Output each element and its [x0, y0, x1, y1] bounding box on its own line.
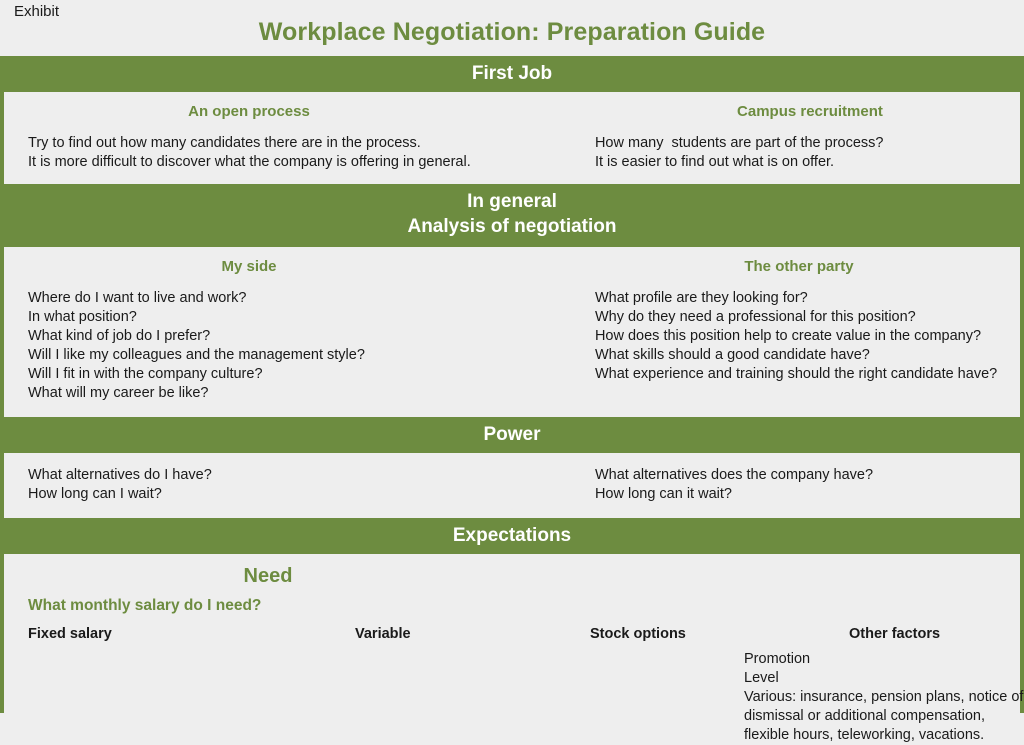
- power-left-line-1: What alternatives do I have?: [28, 466, 573, 485]
- first-job-right-line-2: It is easier to find out what is on offe…: [595, 153, 1020, 172]
- first-job-right-line-1: How many students are part of the proces…: [595, 134, 1020, 153]
- need-columns-table: Fixed salary Variable Stock options Othe…: [4, 624, 1020, 744]
- in-general-right-column: The other party What profile are they lo…: [573, 257, 1020, 403]
- other-factors-note-2: Level: [744, 669, 1024, 688]
- in-general-columns: My side Where do I want to live and work…: [4, 257, 1020, 403]
- other-party-line-5: What experience and training should the …: [595, 365, 1020, 384]
- first-job-left-line-2: It is more difficult to discover what th…: [28, 153, 573, 172]
- my-side-line-5: Will I fit in with the company culture?: [28, 365, 573, 384]
- power-right-column: What alternatives does the company have?…: [573, 466, 1020, 504]
- panel-power: What alternatives do I have? How long ca…: [4, 453, 1020, 518]
- section-header-in-general: In general Analysis of negotiation: [4, 184, 1020, 247]
- power-right-line-1: What alternatives does the company have?: [595, 466, 1020, 485]
- need-column-header-variable: Variable: [355, 624, 411, 644]
- other-party-line-3: How does this position help to create va…: [595, 327, 1020, 346]
- need-question: What monthly salary do I need?: [28, 595, 1020, 616]
- subheading-the-other-party: The other party: [573, 257, 1024, 277]
- other-factors-note-1: Promotion: [744, 650, 1024, 669]
- section-header-in-general-line-2: Analysis of negotiation: [4, 214, 1020, 239]
- power-right-line-2: How long can it wait?: [595, 485, 1020, 504]
- need-column-header-fixed-salary: Fixed salary: [28, 624, 112, 644]
- subheading-an-open-process: An open process: [4, 102, 494, 122]
- other-party-line-4: What skills should a good candidate have…: [595, 346, 1020, 365]
- first-job-columns: An open process Try to find out how many…: [4, 102, 1020, 172]
- exhibit-container: Exhibit Workplace Negotiation: Preparati…: [0, 0, 1024, 713]
- section-header-in-general-line-1: In general: [4, 189, 1020, 214]
- other-party-line-2: Why do they need a professional for this…: [595, 308, 1020, 327]
- subheading-my-side: My side: [4, 257, 494, 277]
- subheading-need: Need: [28, 563, 508, 589]
- other-factors-note-3: Various: insurance, pension plans, notic…: [744, 688, 1024, 745]
- page-title: Workplace Negotiation: Preparation Guide: [0, 18, 1024, 47]
- first-job-left-column: An open process Try to find out how many…: [4, 102, 573, 172]
- power-columns: What alternatives do I have? How long ca…: [4, 466, 1020, 504]
- panel-in-general: My side Where do I want to live and work…: [4, 247, 1020, 417]
- my-side-line-4: Will I like my colleagues and the manage…: [28, 346, 573, 365]
- first-job-left-line-1: Try to find out how many candidates ther…: [28, 134, 573, 153]
- my-side-line-6: What will my career be like?: [28, 384, 573, 403]
- section-header-expectations: Expectations: [4, 518, 1020, 554]
- need-column-header-other-factors: Other factors: [849, 624, 940, 644]
- other-factors-notes: Promotion Level Various: insurance, pens…: [744, 650, 1024, 745]
- my-side-line-1: Where do I want to live and work?: [28, 289, 573, 308]
- exhibit-frame: First Job An open process Try to find ou…: [0, 56, 1024, 713]
- first-job-right-column: Campus recruitment How many students are…: [573, 102, 1020, 172]
- need-column-header-stock-options: Stock options: [590, 624, 686, 644]
- subheading-campus-recruitment: Campus recruitment: [573, 102, 1024, 122]
- in-general-left-column: My side Where do I want to live and work…: [4, 257, 573, 403]
- power-left-line-2: How long can I wait?: [28, 485, 573, 504]
- section-header-first-job: First Job: [4, 56, 1020, 92]
- panel-need: Need What monthly salary do I need? Fixe…: [4, 554, 1020, 744]
- other-party-line-1: What profile are they looking for?: [595, 289, 1020, 308]
- section-header-power: Power: [4, 417, 1020, 453]
- my-side-line-2: In what position?: [28, 308, 573, 327]
- my-side-line-3: What kind of job do I prefer?: [28, 327, 573, 346]
- power-left-column: What alternatives do I have? How long ca…: [4, 466, 573, 504]
- panel-first-job: An open process Try to find out how many…: [4, 92, 1020, 184]
